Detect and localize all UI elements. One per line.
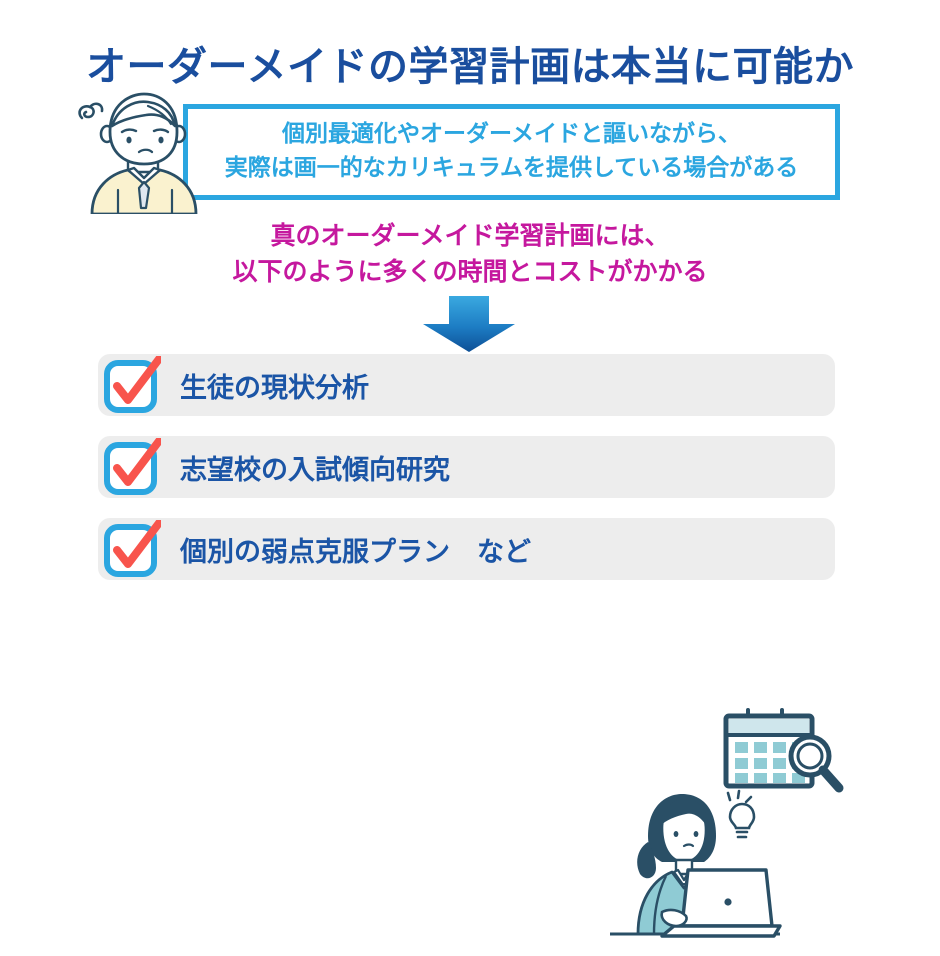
checkbox-icon[interactable] xyxy=(103,438,161,496)
checkbox-icon[interactable] xyxy=(103,520,161,578)
worried-student-illustration xyxy=(62,82,227,214)
woman-at-laptop-illustration xyxy=(604,784,784,952)
checklist: 生徒の現状分析 志望校の入試傾向研究 個別の弱点克服プラン など xyxy=(0,352,940,592)
lead-text: 真のオーダーメイド学習計画には、 以下のように多くの時間とコストがかかる xyxy=(0,218,940,289)
checklist-item-label: 生徒の現状分析 xyxy=(180,354,369,416)
lead-line-1: 真のオーダーメイド学習計画には、 xyxy=(0,218,940,254)
callout-text: 個別最適化やオーダーメイドと謳いながら、 実際は画一的なカリキュラムを提供してい… xyxy=(183,112,840,192)
checklist-item-label: 志望校の入試傾向研究 xyxy=(180,436,450,498)
checkbox-icon[interactable] xyxy=(103,356,161,414)
checklist-item-label: 個別の弱点克服プラン など xyxy=(180,518,531,580)
slide-canvas: オーダーメイドの学習計画は本当に可能か xyxy=(0,0,940,610)
callout-line-2: 実際は画一的なカリキュラムを提供している場合がある xyxy=(225,153,799,185)
lead-line-2: 以下のように多くの時間とコストがかかる xyxy=(0,254,940,290)
calendar-with-magnifier-icon xyxy=(708,704,850,796)
callout-line-1: 個別最適化やオーダーメイドと謳いながら、 xyxy=(282,119,741,151)
down-arrow-icon xyxy=(419,296,519,352)
